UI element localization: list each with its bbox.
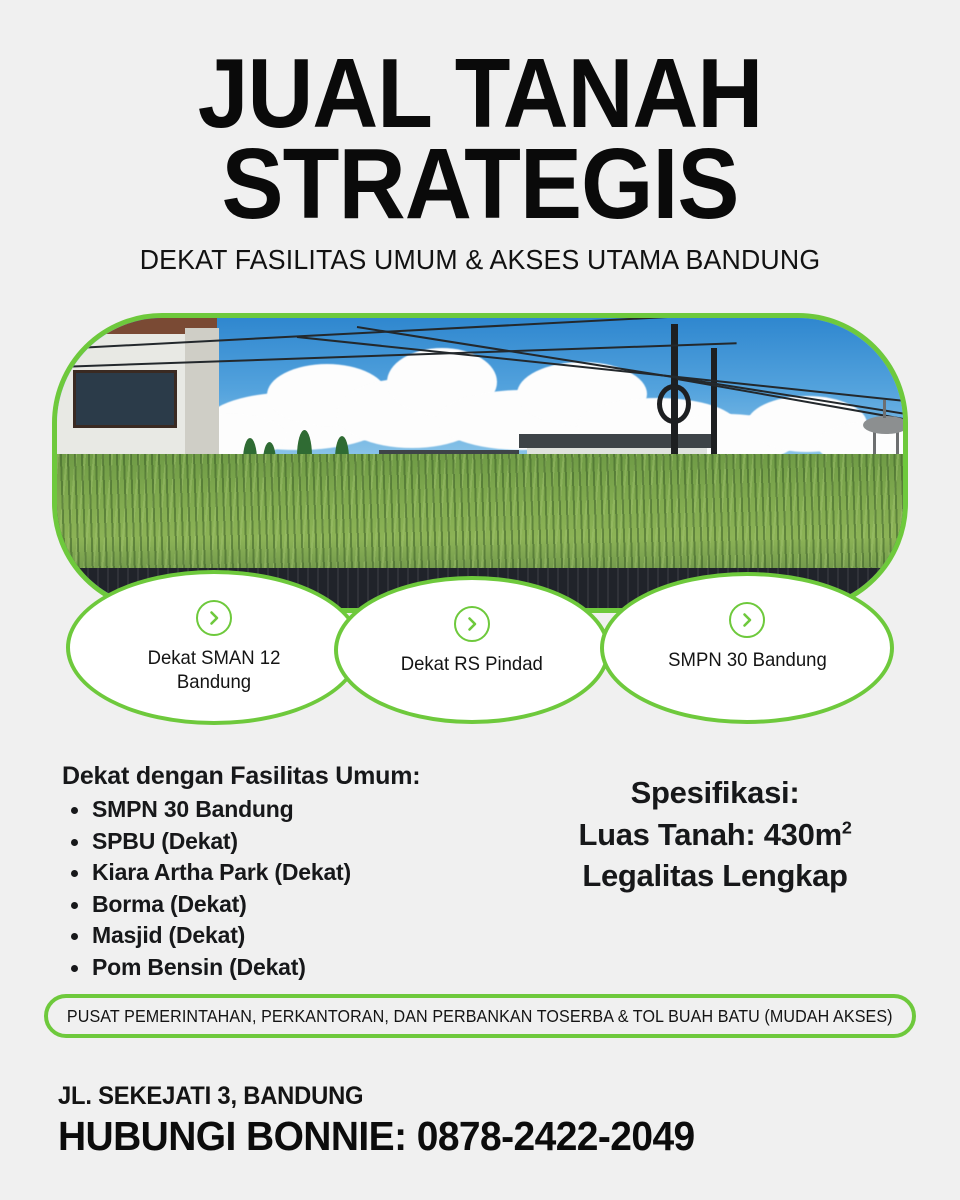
contact-phone[interactable]: HUBUNGI BONNIE: 0878-2422-2049 <box>58 1113 894 1160</box>
feature-label: SMPN 30 Bandung <box>668 648 827 672</box>
access-banner: PUSAT PEMERINTAHAN, PERKANTORAN, DAN PER… <box>44 994 916 1038</box>
page-subtitle: DEKAT FASILITAS UMUM & AKSES UTAMA BANDU… <box>14 244 945 276</box>
chevron-right-icon <box>454 606 490 642</box>
feature-bubble-2[interactable]: Dekat RS Pindad <box>334 576 610 724</box>
facilities-block: Dekat dengan Fasilitas Umum: SMPN 30 Ban… <box>62 762 482 983</box>
spec-land-area-unit: 2 <box>842 817 852 837</box>
feature-bubble-3[interactable]: SMPN 30 Bandung <box>600 572 894 724</box>
chevron-right-icon <box>196 600 232 636</box>
details-section: Dekat dengan Fasilitas Umum: SMPN 30 Ban… <box>0 762 960 962</box>
list-item: SMPN 30 Bandung <box>62 794 482 826</box>
spec-land-area: Luas Tanah: 430m2 <box>500 814 930 856</box>
list-item: Pom Bensin (Dekat) <box>62 952 482 984</box>
list-item: Borma (Dekat) <box>62 889 482 921</box>
tower-tank <box>863 416 903 434</box>
list-item: Kiara Artha Park (Dekat) <box>62 857 482 889</box>
page-title-line-2: STRATEGIS <box>34 138 927 230</box>
tower-mast <box>883 400 886 418</box>
feature-bubble-1[interactable]: Dekat SMAN 12 Bandung <box>66 570 362 725</box>
chevron-right-icon <box>729 602 765 638</box>
list-item: SPBU (Dekat) <box>62 826 482 858</box>
window-frame <box>73 370 177 428</box>
property-photo <box>57 318 903 608</box>
page-title-line-1: JUAL TANAH <box>34 48 927 138</box>
feature-label: Dekat RS Pindad <box>401 652 543 676</box>
specification-block: Spesifikasi: Luas Tanah: 430m2 Legalitas… <box>500 772 930 897</box>
header-block: JUAL TANAH STRATEGIS DEKAT FASILITAS UMU… <box>0 48 960 276</box>
spec-legality: Legalitas Lengkap <box>500 855 930 897</box>
property-address: JL. SEKEJATI 3, BANDUNG <box>58 1082 894 1111</box>
access-banner-text: PUSAT PEMERINTAHAN, PERKANTORAN, DAN PER… <box>67 1006 893 1027</box>
pole-ring <box>657 384 691 424</box>
footer-block: JL. SEKEJATI 3, BANDUNG HUBUNGI BONNIE: … <box>58 1082 938 1160</box>
overgrown-grass <box>57 454 903 574</box>
roof-right <box>519 434 715 448</box>
facilities-list: SMPN 30 Bandung SPBU (Dekat) Kiara Artha… <box>62 794 482 983</box>
list-item: Masjid (Dekat) <box>62 920 482 952</box>
spec-land-area-text: Luas Tanah: 430m <box>578 817 841 852</box>
property-photo-frame <box>52 313 908 613</box>
feature-bubbles: Dekat SMAN 12 Bandung Dekat RS Pindad SM… <box>0 570 960 730</box>
facilities-title: Dekat dengan Fasilitas Umum: <box>62 762 482 791</box>
feature-label: Dekat SMAN 12 Bandung <box>119 646 309 695</box>
property-listing-poster: JUAL TANAH STRATEGIS DEKAT FASILITAS UMU… <box>0 0 960 1200</box>
spec-title: Spesifikasi: <box>500 772 930 814</box>
